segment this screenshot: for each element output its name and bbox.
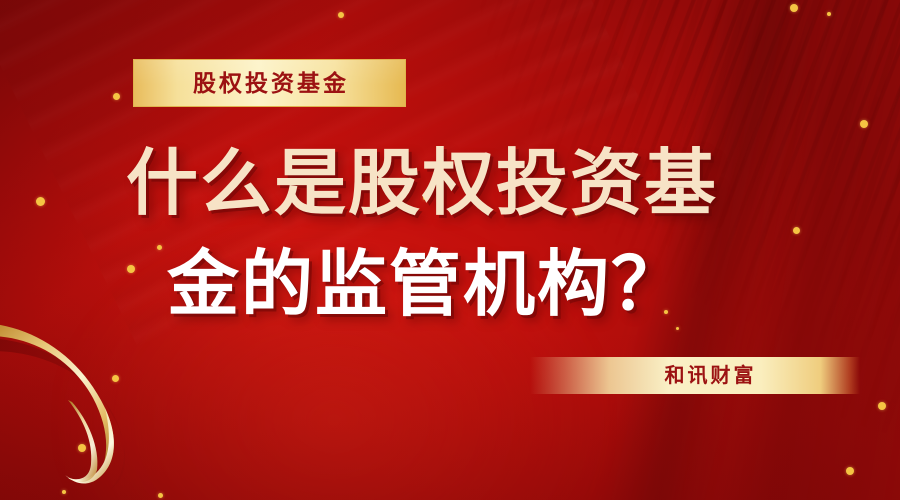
- brand-banner-label: 和讯财富: [662, 366, 757, 386]
- confetti-dot: [158, 493, 163, 498]
- confetti-dot: [790, 4, 798, 12]
- headline-line-1: 什么是股权投资基: [126, 148, 718, 220]
- confetti-dot: [36, 197, 45, 206]
- confetti-dot: [113, 93, 120, 100]
- category-badge-label: 股权投资基金: [190, 72, 349, 95]
- confetti-dot: [78, 444, 86, 452]
- confetti-dot: [157, 245, 162, 250]
- brand-banner: 和讯财富: [530, 357, 860, 394]
- poster-canvas: 股权投资基金 什么是股权投资基 金的监管机构？ 和讯财富: [0, 0, 900, 500]
- confetti-dot: [846, 467, 854, 475]
- confetti-dot: [676, 327, 679, 330]
- confetti-dot: [62, 490, 66, 494]
- confetti-dot: [827, 12, 831, 16]
- confetti-dot: [878, 402, 886, 410]
- headline-line-2: 金的监管机构？: [167, 249, 685, 321]
- confetti-dot: [338, 12, 344, 18]
- confetti-dot: [127, 265, 135, 273]
- confetti-dot: [860, 120, 868, 128]
- confetti-dot: [112, 375, 119, 382]
- confetti-dot: [793, 227, 800, 234]
- category-badge: 股权投资基金: [133, 59, 406, 107]
